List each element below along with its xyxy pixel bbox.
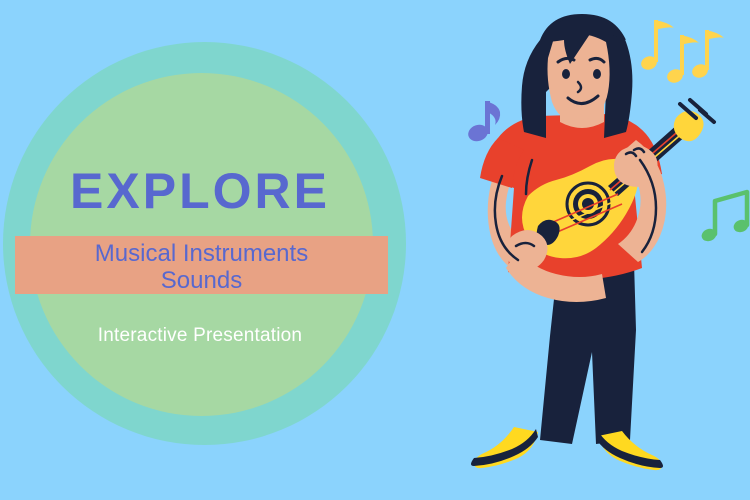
eye-left xyxy=(562,69,570,79)
illustration-guitar-player xyxy=(440,0,750,500)
music-note-blue-single xyxy=(466,101,500,144)
music-note-green-double xyxy=(700,192,750,243)
caption-text: Interactive Presentation xyxy=(0,325,400,347)
subtitle-line-2: Sounds xyxy=(161,267,242,294)
eye-right xyxy=(593,69,601,79)
presentation-slide: EXPLORE Musical Instruments Sounds Inter… xyxy=(0,0,750,500)
subtitle: Musical Instruments Sounds xyxy=(15,238,388,296)
subtitle-line-1: Musical Instruments xyxy=(95,240,308,267)
character-figure xyxy=(471,14,714,470)
music-note-yellow-triple xyxy=(639,20,724,85)
page-title: EXPLORE xyxy=(0,166,400,216)
